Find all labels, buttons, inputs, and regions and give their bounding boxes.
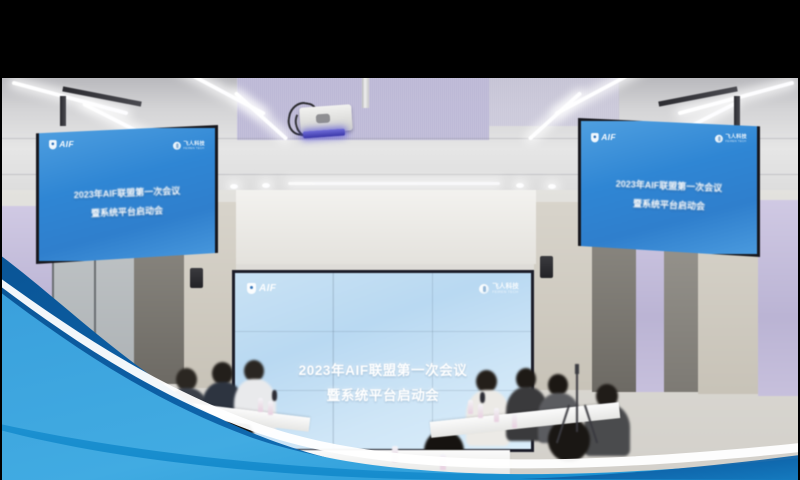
desk-microphone (480, 392, 485, 403)
wall-purple-panel-far-right (758, 200, 800, 396)
letterbox-left-edge (0, 0, 2, 480)
water-bottle (440, 454, 446, 470)
water-bottle (268, 401, 273, 415)
left-tv-mount (60, 96, 66, 126)
left-hanging-tv: AIF 飞人科技 FEIREN TECH 2023年AIF联盟第一次会议 暨系统… (36, 125, 218, 264)
conference-room-photo: AIF 飞人科技 FEIREN TECH 2023年AIF联盟第一次会议 暨系统… (0, 78, 800, 480)
left-tv-title-line1: 2023年AIF联盟第一次会议 (39, 182, 215, 202)
partner-logo-cn: 飞人科技 (184, 141, 205, 147)
aif-logo-text: AIF (601, 133, 616, 142)
water-bottle (392, 446, 398, 462)
water-bottle (468, 400, 473, 414)
partner-logo-sub: FEIREN TECH (184, 147, 205, 150)
partner-logo-sub: FEIREN TECH (492, 290, 519, 294)
partner-circle-icon (715, 135, 723, 143)
wall-speaker-right (540, 256, 553, 278)
water-bottle (494, 408, 499, 422)
right-tv-title-line2: 暨系统平台启动会 (581, 194, 757, 214)
ceiling-downlight-row (288, 182, 500, 185)
shield-icon (247, 283, 256, 294)
wall-soffit (236, 190, 536, 264)
partner-logo-text: 飞人科技 FEIREN TECH (492, 283, 519, 295)
letterbox-top-bar (0, 0, 800, 78)
ceiling-downlight (230, 184, 238, 189)
ceiling-downlight (548, 184, 556, 189)
right-hanging-tv: AIF 飞人科技 FEIREN TECH 2023年AIF联盟第一次会议 暨系统… (578, 118, 760, 257)
partner-logo-text: 飞人科技 FEIREN TECH (726, 134, 747, 143)
right-tv-title-line1: 2023年AIF联盟第一次会议 (581, 175, 757, 195)
water-bottle (478, 404, 483, 418)
ceiling-downlight (516, 183, 524, 188)
conference-table-front (300, 450, 510, 476)
desk-microphone (272, 390, 277, 401)
wall-speaker-left (190, 268, 203, 288)
water-bottle (258, 398, 263, 412)
partner-logo-cn: 飞人科技 (492, 283, 519, 290)
projector-lens (316, 114, 331, 124)
shield-icon (49, 140, 57, 149)
aif-logo-left-tv: AIF (49, 140, 74, 149)
partner-logo-sub: FEIREN TECH (726, 140, 747, 143)
aif-logo-right-tv: AIF (591, 133, 616, 142)
partner-logo-cn: 飞人科技 (726, 134, 747, 140)
partner-logo-text: 飞人科技 FEIREN TECH (184, 141, 205, 150)
partner-logo-left-tv: 飞人科技 FEIREN TECH (173, 141, 205, 150)
camera-tripod (560, 364, 594, 446)
partner-logo-right-tv: 飞人科技 FEIREN TECH (715, 134, 747, 143)
right-tv-mount (734, 96, 740, 126)
ceiling-downlight (262, 183, 270, 188)
partner-logo-videowall: 飞人科技 FEIREN TECH (479, 283, 519, 295)
aif-logo-videowall: AIF (247, 283, 276, 294)
projector-mount-rod (362, 78, 369, 108)
aif-logo-text: AIF (59, 140, 74, 149)
aif-logo-text: AIF (259, 283, 276, 294)
partner-circle-icon (479, 284, 489, 294)
water-bottle (512, 414, 517, 428)
screenshot-root: AIF 飞人科技 FEIREN TECH 2023年AIF联盟第一次会议 暨系统… (0, 0, 800, 480)
left-tv-title-line2: 暨系统平台启动会 (39, 201, 215, 221)
shield-icon (591, 133, 599, 142)
partner-circle-icon (173, 142, 181, 150)
